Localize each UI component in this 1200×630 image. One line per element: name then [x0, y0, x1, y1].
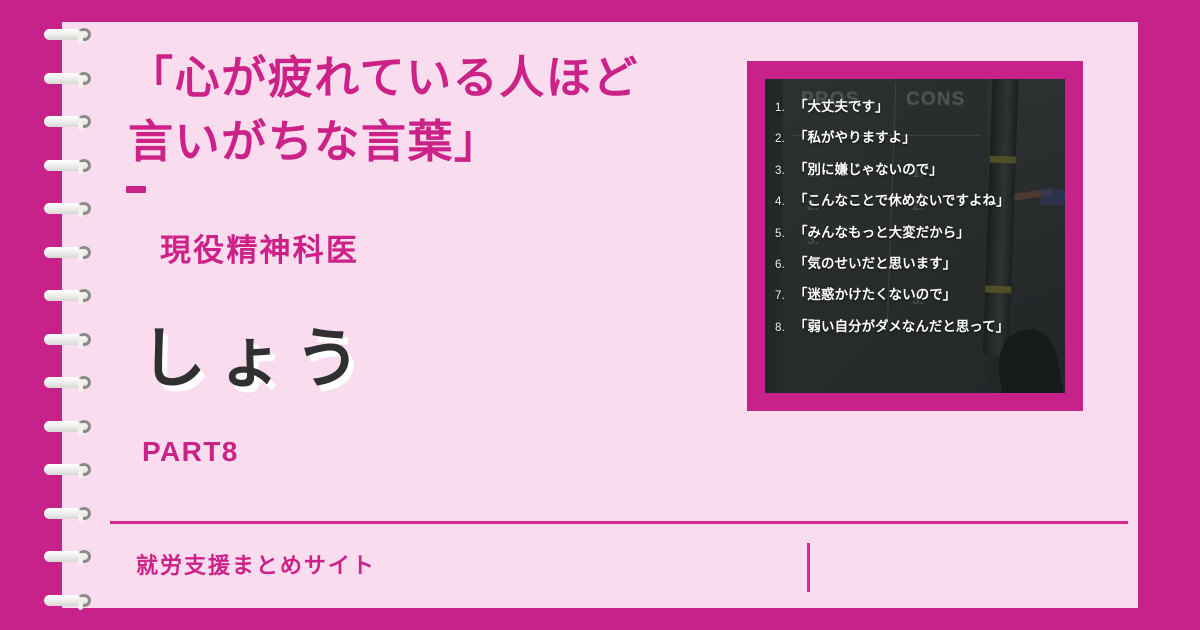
list-item-text: 「弱い自分がダメなんだと思って」: [794, 315, 1009, 335]
poster-canvas: 「心が疲れている人ほど 言いがちな言葉」 現役精神科医 しょう PART8 就労…: [0, 0, 1200, 630]
author-name: しょう: [140, 305, 372, 401]
list-item-text: 「気のせいだと思います」: [794, 252, 956, 272]
list-item-text: 「みんなもっと大変だから」: [794, 221, 970, 241]
photo-panel: PROS CONS 1. 2. 3. 1. 2. 3. 1. 「大丈夫で: [747, 61, 1083, 411]
part-label: PART8: [142, 436, 239, 468]
list-item-number: 8.: [775, 322, 794, 334]
list-item-text: 「大丈夫です」: [794, 95, 889, 115]
list-item-number: 1.: [775, 102, 794, 114]
horizontal-divider: [110, 521, 1128, 524]
list-item-text: 「私がやりますよ」: [794, 126, 916, 146]
list-item-number: 2.: [775, 133, 794, 145]
list-item-text: 「迷惑かけたくないので」: [794, 283, 956, 303]
list-item-number: 7.: [775, 290, 794, 302]
subtitle: 現役精神科医: [160, 225, 359, 270]
list-item-number: 6.: [775, 259, 794, 271]
dash-divider-icon: [126, 186, 146, 193]
vertical-divider: [807, 543, 810, 592]
list-item-text: 「こんなことで休めないですよね」: [794, 189, 1010, 209]
overlay-list: 1. 「大丈夫です」 2. 「私がやりますよ」 3. 「別に嫌じゃないので」 4…: [765, 79, 1065, 393]
list-item: 4. 「こんなことで休めないですよね」: [775, 189, 1059, 209]
list-item: 3. 「別に嫌じゃないので」: [775, 158, 1059, 178]
list-item: 5. 「みんなもっと大変だから」: [775, 221, 1059, 241]
list-item-text: 「別に嫌じゃないので」: [794, 158, 943, 178]
photo-image: PROS CONS 1. 2. 3. 1. 2. 3. 1. 「大丈夫で: [765, 79, 1065, 393]
list-item: 2. 「私がやりますよ」: [775, 126, 1059, 146]
list-item-number: 4.: [775, 196, 794, 208]
list-item-number: 3.: [775, 165, 794, 177]
list-item: 7. 「迷惑かけたくないので」: [775, 283, 1059, 303]
site-name: 就労支援まとめサイト: [136, 548, 376, 580]
list-item: 6. 「気のせいだと思います」: [775, 252, 1059, 272]
list-item: 1. 「大丈夫です」: [775, 95, 1059, 115]
page-title: 「心が疲れている人ほど 言いがちな言葉」: [128, 46, 728, 174]
list-item-number: 5.: [775, 228, 794, 240]
list-item: 8. 「弱い自分がダメなんだと思って」: [775, 315, 1059, 335]
